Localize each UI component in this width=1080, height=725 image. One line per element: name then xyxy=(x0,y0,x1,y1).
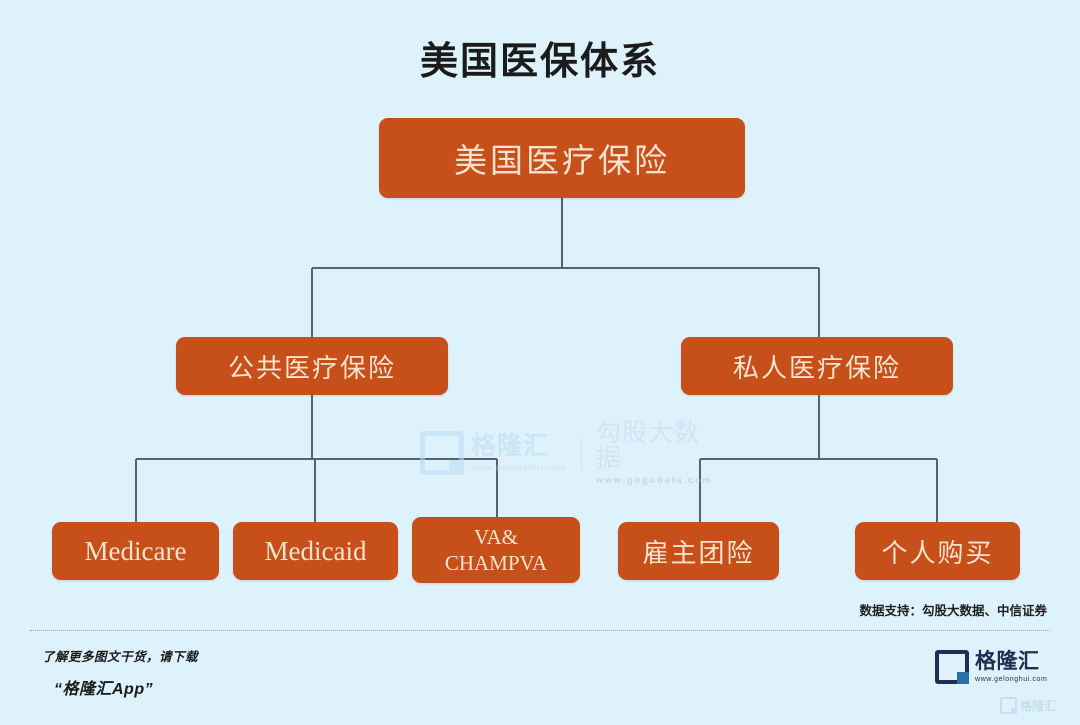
diagram-canvas: 美国医保体系 格隆汇 www.gelonghu xyxy=(0,0,1080,725)
watermark-brand-name: 格隆汇 xyxy=(471,434,567,459)
node-employer-group-insurance[interactable]: 雇主团险 xyxy=(618,522,779,580)
gelonghui-logo-icon xyxy=(935,650,969,684)
watermark-partner-name: 勾股大数据 xyxy=(596,421,720,471)
corner-badge-label: 格隆汇 xyxy=(1020,697,1056,714)
node-individual-purchase[interactable]: 个人购买 xyxy=(855,522,1020,580)
footer-promo-line1: 了解更多图文干货，请下载 xyxy=(42,646,198,665)
node-va-line1: VA& xyxy=(474,524,518,550)
footer-logo-name: 格隆汇 xyxy=(975,651,1047,672)
node-va-champva[interactable]: VA& CHAMPVA xyxy=(412,517,580,583)
node-medicare[interactable]: Medicare xyxy=(52,522,219,580)
center-watermark: 格隆汇 www.gelonghui.com 勾股大数据 www.gogudata… xyxy=(420,422,720,484)
source-note: 数据支持：勾股大数据、中信证券 xyxy=(859,600,1047,619)
gelonghui-logo-icon xyxy=(420,431,464,475)
node-medicaid[interactable]: Medicaid xyxy=(233,522,398,580)
watermark-divider xyxy=(581,435,582,471)
footer-logo-texts: 格隆汇 www.gelonghui.com xyxy=(975,651,1047,683)
watermark-partner: 勾股大数据 www.gogudata.com xyxy=(596,421,720,485)
watermark-partner-url: www.gogudata.com xyxy=(596,476,720,485)
node-va-line2: CHAMPVA xyxy=(445,550,547,576)
footer-promo-line2: “格隆汇App” xyxy=(54,675,198,699)
page-title: 美国医保体系 xyxy=(0,30,1080,85)
footer-logo: 格隆汇 www.gelonghui.com xyxy=(935,650,1047,684)
node-private-insurance[interactable]: 私人医疗保险 xyxy=(681,337,953,395)
footer-divider xyxy=(30,630,1050,631)
node-root-insurance[interactable]: 美国医疗保险 xyxy=(379,118,745,198)
gelonghui-logo-icon xyxy=(1000,697,1017,714)
footer-promo: 了解更多图文干货，请下载 “格隆汇App” xyxy=(42,646,198,699)
node-public-insurance[interactable]: 公共医疗保险 xyxy=(176,337,448,395)
watermark-brand: 格隆汇 www.gelonghui.com xyxy=(471,434,567,472)
corner-watermark-badge: 格隆汇 xyxy=(1000,697,1056,714)
watermark-brand-url: www.gelonghui.com xyxy=(471,463,567,472)
footer-logo-url: www.gelonghui.com xyxy=(975,676,1047,683)
